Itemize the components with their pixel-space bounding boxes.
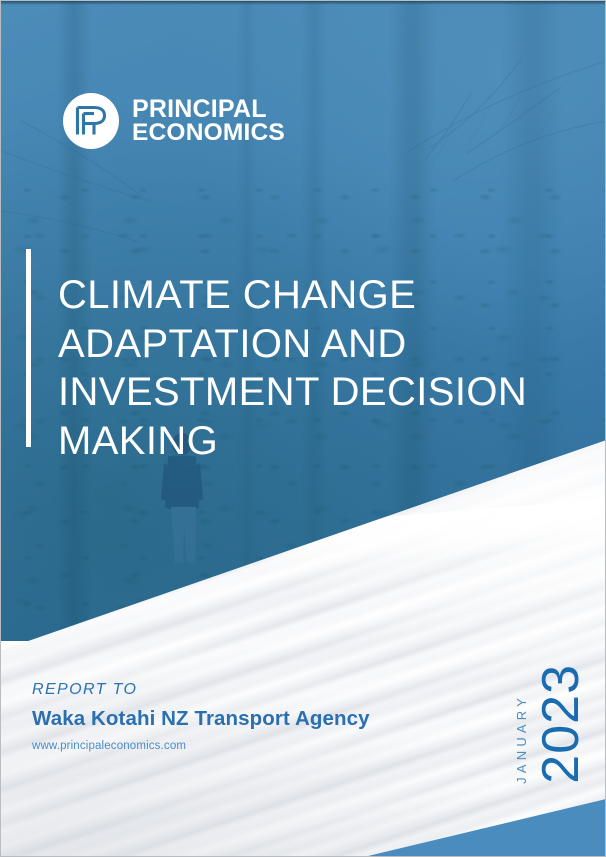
brand-name-line-2: ECONOMICS — [132, 121, 285, 145]
report-details: REPORT TO Waka Kotahi NZ Transport Agenc… — [32, 681, 370, 752]
page-title: CLIMATE CHANGE ADAPTATION AND INVESTMENT… — [58, 271, 558, 466]
brand-wordmark: PRINCIPAL ECONOMICS — [132, 97, 285, 146]
client-name: Waka Kotahi NZ Transport Agency — [32, 707, 370, 731]
photo-top-edge — [1, 1, 606, 5]
title-accent-bar — [26, 249, 31, 447]
principal-economics-monogram-icon — [63, 93, 119, 149]
website-url[interactable]: www.principaleconomics.com — [32, 740, 370, 752]
report-cover-page: PRINCIPAL ECONOMICS CLIMATE CHANGE ADAPT… — [0, 0, 606, 857]
report-to-label: REPORT TO — [32, 681, 370, 699]
brand-logo: PRINCIPAL ECONOMICS — [63, 93, 285, 149]
brand-name-line-1: PRINCIPAL — [132, 97, 285, 122]
publication-month: JANUARY — [514, 692, 529, 784]
publication-date: JANUARY 2023 — [514, 614, 587, 784]
publication-year: 2023 — [535, 664, 587, 784]
